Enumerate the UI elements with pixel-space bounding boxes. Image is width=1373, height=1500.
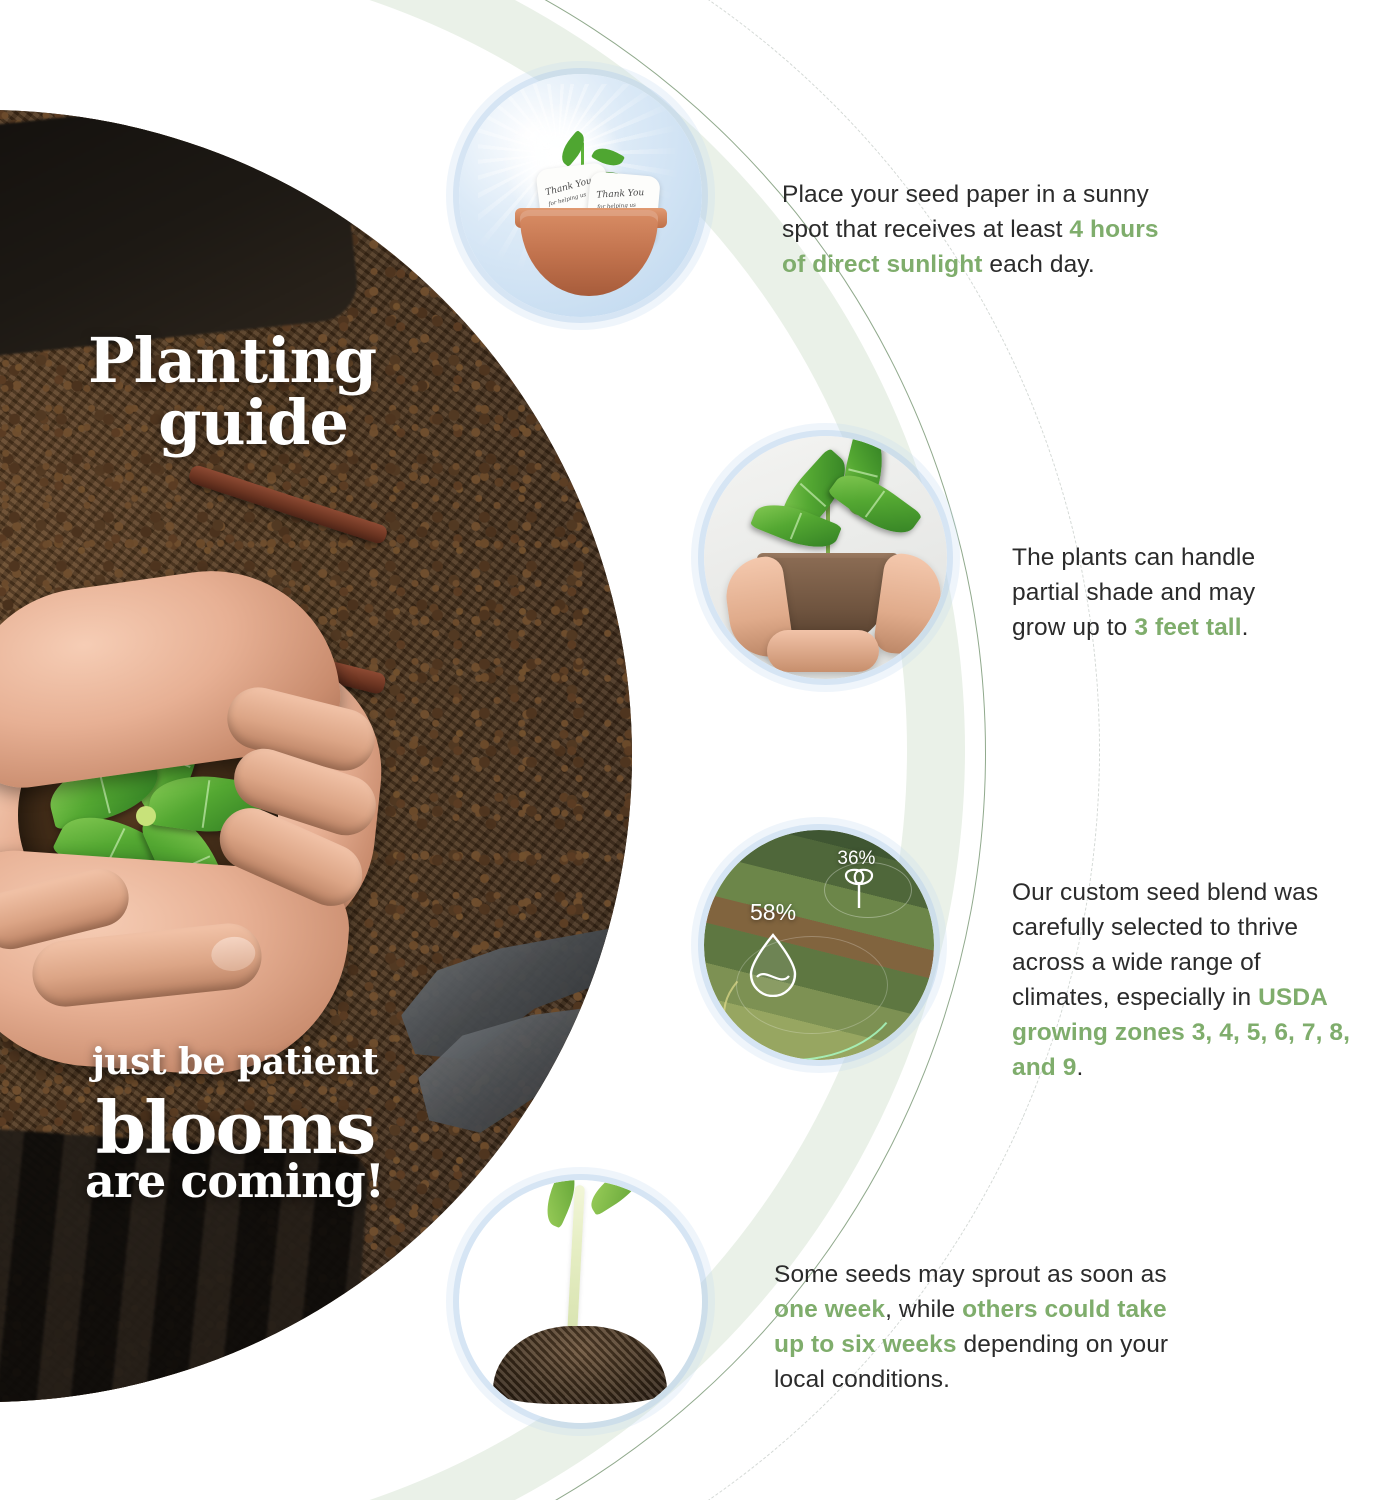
body-phrase: . (1242, 614, 1249, 641)
planting-guide-page: Planting guide just be patient blooms ar… (0, 0, 1373, 1500)
step-text-sunlight: Place your seed paper in a sunny spot th… (782, 177, 1182, 282)
bubble-4-inner (459, 1180, 702, 1423)
body-phrase: Some seeds may sprout as soon as (774, 1261, 1167, 1288)
hands-cupping-seedling (0, 580, 360, 1080)
kicker-text: just be patient (80, 1044, 390, 1080)
highlighted-phrase: 3 feet tall (1134, 614, 1241, 641)
body-phrase: . (1077, 1054, 1084, 1081)
bubble-2-inner (704, 436, 947, 679)
bubble-3-inner: 36% 58% (704, 830, 934, 1060)
water-drop-hud-icon (745, 931, 801, 997)
moisture-percent-readout: 58% (750, 899, 796, 926)
highlighted-phrase: one week (774, 1296, 885, 1323)
body-phrase: , while (885, 1296, 962, 1323)
bubble-1-inner: Thank You for helping us Thank You for h… (459, 74, 702, 317)
fingernail (210, 935, 257, 973)
step-image-shade-height (704, 436, 947, 679)
step-image-sprout-time (459, 1180, 702, 1423)
step-text-shade-height: The plants can handle partial shade and … (1012, 540, 1282, 645)
step-image-sunlight: Thank You for helping us Thank You for h… (459, 74, 702, 317)
step-text-climate-zones: Our custom seed blend was carefully sele… (1012, 875, 1364, 1085)
body-phrase: each day. (983, 251, 1095, 278)
fingers (767, 630, 879, 672)
title-line-2: guide (88, 392, 418, 454)
seedling-crown (136, 806, 156, 826)
page-title: Planting guide (88, 330, 418, 454)
are-coming-text: are coming! (62, 1158, 407, 1204)
step-image-climate-zones: 36% 58% (704, 830, 934, 1060)
sprout-percent-readout: 36% (837, 848, 875, 870)
step-text-sprout-time: Some seeds may sprout as soon as one wee… (774, 1257, 1182, 1397)
